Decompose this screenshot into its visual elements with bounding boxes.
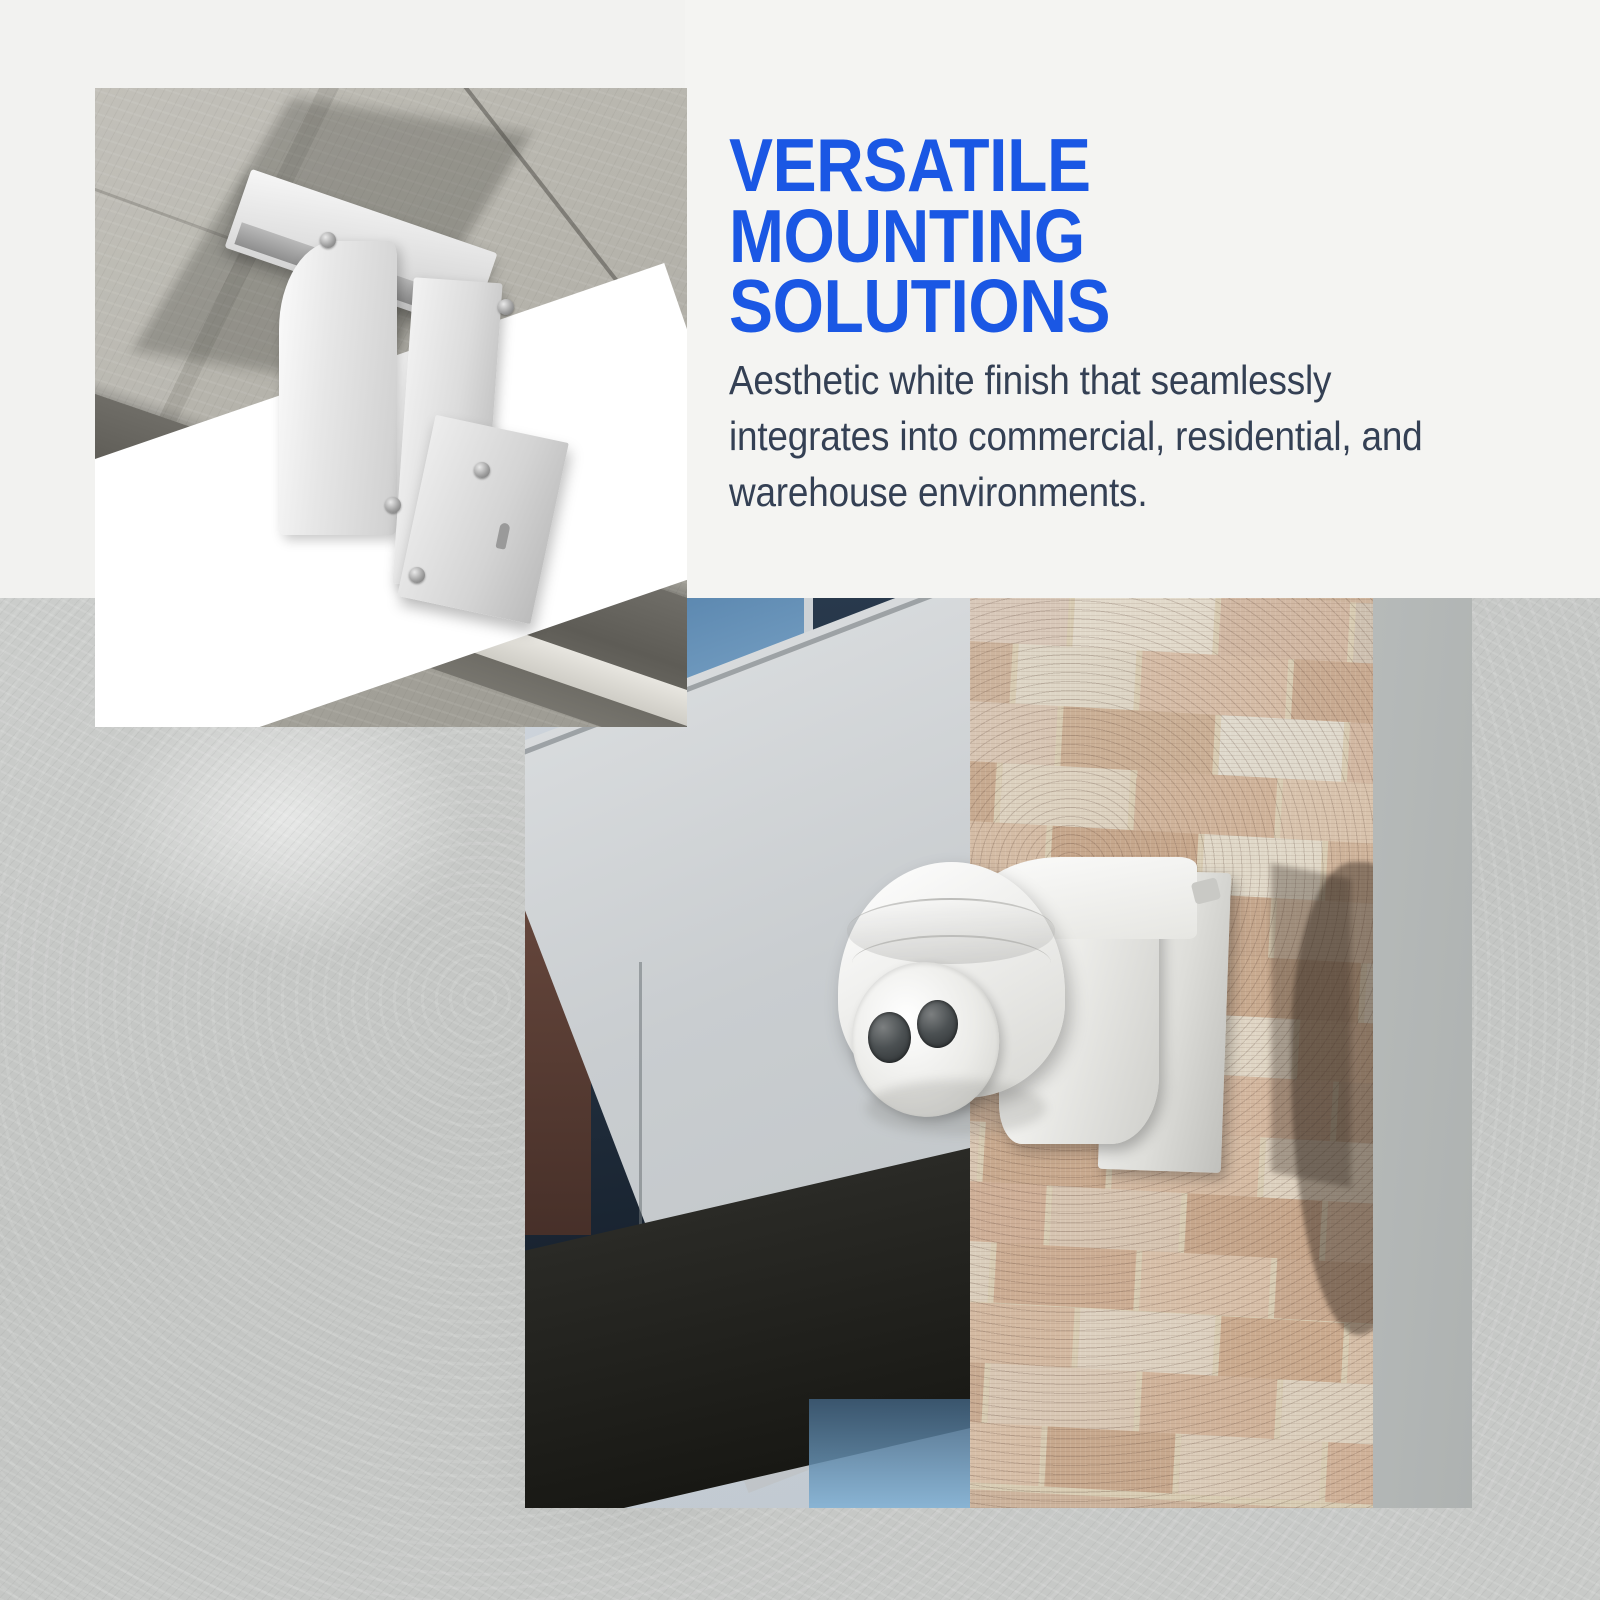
brick: [1072, 598, 1221, 655]
brick: [1218, 1316, 1350, 1383]
adjacent-stucco-wall: [1373, 598, 1472, 1508]
brick: [1218, 598, 1356, 662]
bracket-bolt: [474, 462, 490, 478]
brick: [1044, 1426, 1182, 1493]
brick: [970, 754, 1002, 822]
photo-wall-mount-camera: [525, 598, 1472, 1508]
brick: [1078, 1308, 1222, 1376]
brick: [988, 1363, 1143, 1431]
brick: [1134, 770, 1283, 838]
page-subcopy: Aesthetic white finish that seamlessly i…: [729, 352, 1440, 520]
brick: [1139, 651, 1294, 719]
brick: [999, 763, 1137, 830]
camera-ir-lens: [917, 1000, 958, 1048]
brick: [1139, 1251, 1277, 1318]
brick: [1050, 1186, 1188, 1253]
bracket-bolt: [320, 232, 336, 248]
brick: [1139, 1371, 1283, 1439]
bracket-bolt: [385, 497, 401, 513]
page-title: Versatile Mounting Solutions: [729, 130, 1424, 342]
bracket-curved-arm: [279, 241, 397, 535]
brick: [970, 598, 1075, 647]
brick: [1061, 706, 1221, 775]
bracket-bolt: [409, 567, 425, 583]
camera-under-shadow: [866, 1080, 1046, 1135]
brick: [970, 699, 1064, 766]
promo-graphic: Versatile Mounting Solutions Aesthetic w…: [0, 0, 1600, 1600]
brick: [970, 1236, 997, 1303]
brick: [1218, 715, 1350, 782]
brick: [970, 1178, 1053, 1246]
camera-lens: [868, 1012, 912, 1063]
brick: [1179, 1434, 1328, 1502]
bracket-bolt: [498, 299, 514, 315]
brick: [970, 1300, 1081, 1368]
brick: [1016, 644, 1143, 711]
photo-ceiling-mount: [95, 88, 687, 727]
brick: [993, 1243, 1142, 1311]
brick: [970, 636, 1019, 704]
brick: [970, 1418, 1047, 1486]
